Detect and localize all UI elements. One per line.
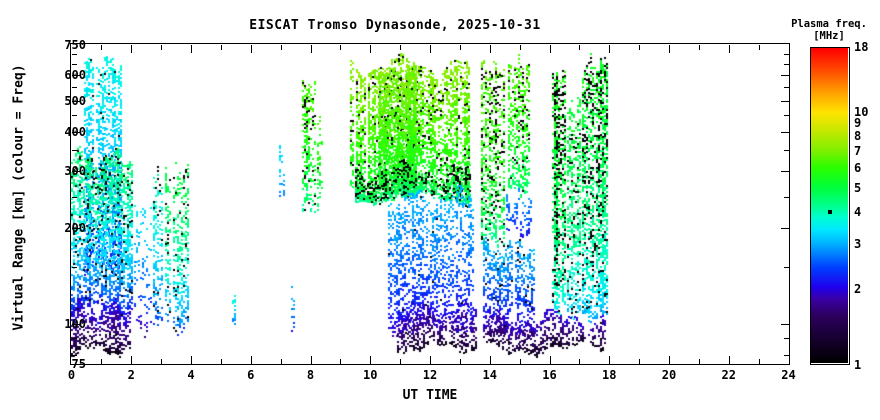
- y-major-tick: [72, 171, 80, 172]
- y-minor-tick: [784, 267, 789, 268]
- y-major-tick: [781, 171, 789, 172]
- colorbar: [810, 47, 850, 365]
- x-major-tick-top: [370, 45, 371, 53]
- x-minor-tick-top: [520, 45, 521, 50]
- x-minor-tick-top: [340, 45, 341, 50]
- x-major-tick: [729, 356, 730, 364]
- x-major-tick: [191, 356, 192, 364]
- x-major-tick: [609, 356, 610, 364]
- colorbar-tick-label: 18: [854, 40, 868, 54]
- x-minor-tick: [520, 359, 521, 364]
- x-tick-label: 10: [363, 368, 377, 382]
- x-major-tick-top: [131, 45, 132, 53]
- y-minor-tick: [72, 338, 77, 339]
- y-axis-label-text: Virtual Range [km] (colour = Freq): [12, 53, 27, 343]
- colorbar-marker-dot: [828, 210, 832, 214]
- scatter-canvas: [71, 44, 788, 363]
- colorbar-tick-label: 2: [854, 282, 861, 296]
- colorbar-title-line1: Plasma freq.: [778, 18, 880, 30]
- x-tick-label: 24: [781, 368, 795, 382]
- colorbar-title: Plasma freq. [MHz]: [778, 18, 880, 42]
- x-minor-tick: [161, 359, 162, 364]
- colorbar-tick-label: 4: [854, 205, 861, 219]
- y-minor-tick: [72, 54, 77, 55]
- x-tick-label: 8: [307, 368, 314, 382]
- x-minor-tick: [221, 359, 222, 364]
- x-minor-tick-top: [639, 45, 640, 50]
- x-tick-label: 16: [542, 368, 556, 382]
- x-major-tick: [669, 356, 670, 364]
- x-minor-tick: [101, 359, 102, 364]
- x-major-tick: [131, 356, 132, 364]
- x-major-tick-top: [490, 45, 491, 53]
- x-minor-tick-top: [579, 45, 580, 50]
- y-major-tick: [781, 228, 789, 229]
- y-minor-tick: [72, 355, 77, 356]
- colorbar-tick-label: 3: [854, 237, 861, 251]
- y-minor-tick: [784, 54, 789, 55]
- colorbar-tick-label: 5: [854, 181, 861, 195]
- x-minor-tick-top: [759, 45, 760, 50]
- colorbar-tick-label: 8: [854, 129, 861, 143]
- y-minor-tick: [72, 267, 77, 268]
- plot-area: [71, 44, 789, 364]
- x-minor-tick-top: [221, 45, 222, 50]
- x-tick-label: 18: [602, 368, 616, 382]
- y-major-tick: [781, 324, 789, 325]
- x-major-tick: [490, 356, 491, 364]
- colorbar-tick-label: 1: [854, 358, 861, 372]
- x-minor-tick-top: [161, 45, 162, 50]
- x-tick-label: 22: [722, 368, 736, 382]
- x-tick-label: 14: [483, 368, 497, 382]
- x-minor-tick: [460, 359, 461, 364]
- colorbar-tick-label: 7: [854, 144, 861, 158]
- page-title: EISCAT Tromso Dynasonde, 2025-10-31: [0, 18, 790, 33]
- x-major-tick-top: [191, 45, 192, 53]
- y-minor-tick: [72, 64, 77, 65]
- y-minor-tick: [784, 197, 789, 198]
- y-major-tick: [781, 75, 789, 76]
- x-tick-label: 0: [68, 368, 75, 382]
- x-major-tick: [430, 356, 431, 364]
- y-minor-tick: [784, 87, 789, 88]
- x-tick-label: 2: [128, 368, 135, 382]
- y-minor-tick: [784, 115, 789, 116]
- y-tick-label: 75: [26, 357, 86, 371]
- y-major-tick: [72, 324, 80, 325]
- x-major-tick-top: [669, 45, 670, 53]
- y-major-tick: [781, 132, 789, 133]
- x-major-tick: [251, 356, 252, 364]
- colorbar-gradient: [811, 48, 848, 363]
- x-tick-label: 12: [423, 368, 437, 382]
- x-minor-tick-top: [281, 45, 282, 50]
- plot-frame: [70, 43, 790, 365]
- y-minor-tick: [72, 115, 77, 116]
- x-minor-tick: [759, 359, 760, 364]
- y-minor-tick: [72, 150, 77, 151]
- y-axis-label: Virtual Range [km] (colour = Freq): [4, 0, 26, 420]
- x-major-tick-top: [430, 45, 431, 53]
- y-major-tick: [72, 132, 80, 133]
- y-major-tick: [72, 228, 80, 229]
- x-minor-tick: [579, 359, 580, 364]
- x-major-tick-top: [251, 45, 252, 53]
- y-minor-tick: [784, 355, 789, 356]
- x-major-tick-top: [311, 45, 312, 53]
- y-major-tick: [72, 101, 80, 102]
- x-minor-tick: [340, 359, 341, 364]
- ionogram-plot: EISCAT Tromso Dynasonde, 2025-10-31 Virt…: [0, 0, 880, 420]
- y-minor-tick: [784, 150, 789, 151]
- x-major-tick: [550, 356, 551, 364]
- x-major-tick-top: [609, 45, 610, 53]
- y-minor-tick: [72, 87, 77, 88]
- y-minor-tick: [72, 197, 77, 198]
- x-minor-tick-top: [400, 45, 401, 50]
- x-axis-label: UT TIME: [70, 388, 790, 403]
- y-major-tick: [781, 101, 789, 102]
- x-minor-tick-top: [460, 45, 461, 50]
- x-major-tick-top: [550, 45, 551, 53]
- x-major-tick: [311, 356, 312, 364]
- y-minor-tick: [784, 64, 789, 65]
- x-tick-label: 20: [662, 368, 676, 382]
- x-major-tick-top: [729, 45, 730, 53]
- x-minor-tick: [400, 359, 401, 364]
- x-major-tick: [370, 356, 371, 364]
- x-minor-tick: [639, 359, 640, 364]
- x-tick-label: 6: [247, 368, 254, 382]
- colorbar-tick-label: 6: [854, 161, 861, 175]
- x-minor-tick-top: [699, 45, 700, 50]
- x-minor-tick: [281, 359, 282, 364]
- x-minor-tick-top: [101, 45, 102, 50]
- y-major-tick: [72, 75, 80, 76]
- colorbar-tick-label: 10: [854, 105, 868, 119]
- y-minor-tick: [784, 338, 789, 339]
- x-minor-tick: [699, 359, 700, 364]
- y-tick-label: 750: [26, 38, 86, 52]
- x-tick-label: 4: [187, 368, 194, 382]
